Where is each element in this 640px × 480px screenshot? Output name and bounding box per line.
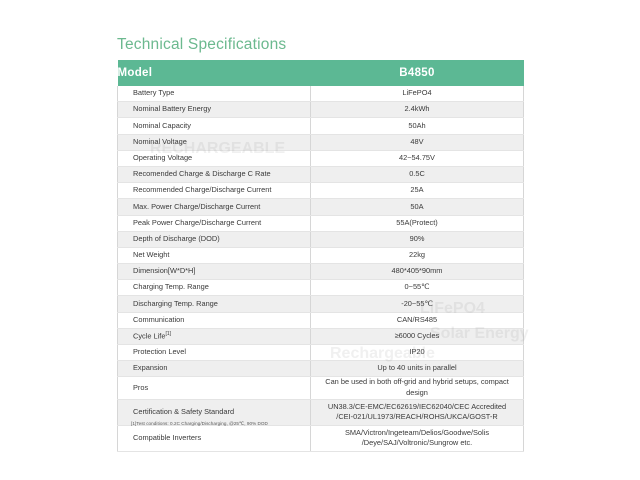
- table-row: Discharging Temp. Range-20~55℃: [118, 296, 524, 312]
- spec-label: Net Weight: [118, 247, 311, 263]
- spec-value: LiFePO4: [311, 86, 524, 102]
- spec-label: Protection Level: [118, 345, 311, 361]
- spec-value: ≥6000 Cycles: [311, 328, 524, 344]
- spec-value-line: /CEI-021/UL1973/REACH/ROHS/UKCA/GOST-R: [315, 412, 519, 423]
- spec-label: Operating Voltage: [118, 150, 311, 166]
- spec-value: 0.5C: [311, 166, 524, 182]
- spec-value-line: /Deye/SAJ/Voltronic/Sungrow etc.: [315, 438, 519, 449]
- table-body: Battery TypeLiFePO4Nominal Battery Energ…: [118, 86, 524, 451]
- table-row: Depth of Discharge (DOD)90%: [118, 231, 524, 247]
- table-row: Cycle Life[1]≥6000 Cycles: [118, 328, 524, 344]
- spec-label: Peak Power Charge/Discharge Current: [118, 215, 311, 231]
- spec-label: Recommended Charge/Discharge Current: [118, 183, 311, 199]
- spec-label: Dimension[W*D*H]: [118, 264, 311, 280]
- table-row: CommunicationCAN/RS485: [118, 312, 524, 328]
- table-row: Dimension[W*D*H]480*405*90mm: [118, 264, 524, 280]
- table-row: ProsCan be used in both off-grid and hyb…: [118, 377, 524, 399]
- table-row: Recommended Charge/Discharge Current25A: [118, 183, 524, 199]
- spec-label: Depth of Discharge (DOD): [118, 231, 311, 247]
- spec-value-line: SMA/Victron/Ingeteam/Delios/Goodwe/Solis: [315, 428, 519, 439]
- spec-value-line: UN38.3/CE-EMC/EC62619/IEC62040/CEC Accre…: [315, 402, 519, 413]
- spec-label: Nominal Battery Energy: [118, 102, 311, 118]
- spec-value: 48V: [311, 134, 524, 150]
- spec-label-text: Cycle Life: [133, 331, 165, 340]
- table-row: Protection LevelIP20: [118, 345, 524, 361]
- column-header-value: B4850: [311, 60, 524, 86]
- table-footnote: [1]Test conditions: 0.2C Charging/Discha…: [131, 421, 268, 427]
- spec-value: SMA/Victron/Ingeteam/Delios/Goodwe/Solis…: [311, 425, 524, 451]
- table-row: ExpansionUp to 40 units in parallel: [118, 361, 524, 377]
- spec-value: Up to 40 units in parallel: [311, 361, 524, 377]
- spec-value: 55A(Protect): [311, 215, 524, 231]
- spec-value: 50A: [311, 199, 524, 215]
- table-row: Nominal Voltage48V: [118, 134, 524, 150]
- spec-label: Nominal Capacity: [118, 118, 311, 134]
- table-row: Battery TypeLiFePO4: [118, 86, 524, 102]
- spec-value: -20~55℃: [311, 296, 524, 312]
- table-row: Nominal Capacity50Ah: [118, 118, 524, 134]
- spec-label: Pros: [118, 377, 311, 399]
- spec-value: CAN/RS485: [311, 312, 524, 328]
- specification-document: Technical Specifications Model B4850 Bat…: [0, 0, 640, 480]
- spec-label: Nominal Voltage: [118, 134, 311, 150]
- spec-label: Discharging Temp. Range: [118, 296, 311, 312]
- spec-value: 42~54.75V: [311, 150, 524, 166]
- table-header: Model B4850: [118, 60, 524, 86]
- table-row: Operating Voltage42~54.75V: [118, 150, 524, 166]
- table-row: Peak Power Charge/Discharge Current55A(P…: [118, 215, 524, 231]
- spec-label: Communication: [118, 312, 311, 328]
- spec-label: Max. Power Charge/Discharge Current: [118, 199, 311, 215]
- spec-value: 480*405*90mm: [311, 264, 524, 280]
- column-header-model: Model: [118, 60, 311, 86]
- spec-value: 0~55℃: [311, 280, 524, 296]
- spec-value: 50Ah: [311, 118, 524, 134]
- spec-label: Cycle Life[1]: [118, 328, 311, 344]
- spec-label: Charging Temp. Range: [118, 280, 311, 296]
- table-row: Compatible InvertersSMA/Victron/Ingeteam…: [118, 425, 524, 451]
- spec-label: Compatible Inverters: [118, 425, 311, 451]
- spec-value: 25A: [311, 183, 524, 199]
- footnote-marker: [1]: [165, 331, 171, 337]
- spec-label: Battery Type: [118, 86, 311, 102]
- spec-label: Expansion: [118, 361, 311, 377]
- table-row: Charging Temp. Range0~55℃: [118, 280, 524, 296]
- spec-value: UN38.3/CE-EMC/EC62619/IEC62040/CEC Accre…: [311, 399, 524, 425]
- table-row: Net Weight22kg: [118, 247, 524, 263]
- page-title: Technical Specifications: [117, 36, 286, 54]
- spec-value: 90%: [311, 231, 524, 247]
- technical-specifications-table: Model B4850 Battery TypeLiFePO4Nominal B…: [117, 60, 524, 452]
- spec-value: 2.4kWh: [311, 102, 524, 118]
- spec-value: IP20: [311, 345, 524, 361]
- table-row: Nominal Battery Energy2.4kWh: [118, 102, 524, 118]
- spec-value: Can be used in both off-grid and hybrid …: [311, 377, 524, 399]
- spec-label: Recomended Charge & Discharge C Rate: [118, 166, 311, 182]
- table-row: Recomended Charge & Discharge C Rate0.5C: [118, 166, 524, 182]
- table-header-row: Model B4850: [118, 60, 524, 86]
- table-row: Max. Power Charge/Discharge Current50A: [118, 199, 524, 215]
- spec-value: 22kg: [311, 247, 524, 263]
